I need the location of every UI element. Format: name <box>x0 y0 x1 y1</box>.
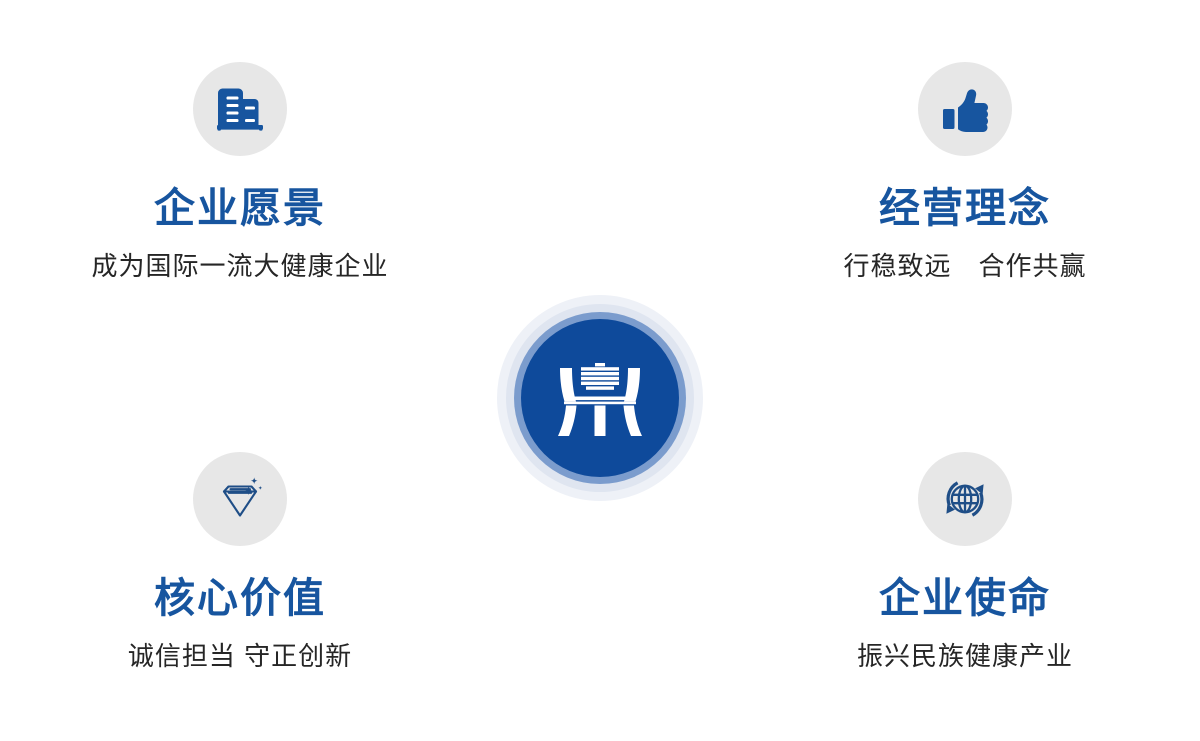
card-title: 核心价值 <box>154 578 326 619</box>
culture-card-core-values: 核心价值 诚信担当 守正创新 <box>30 452 450 669</box>
office-building-icon <box>193 62 287 156</box>
ding-vessel-logo <box>548 346 652 450</box>
card-title: 经营理念 <box>879 188 1051 229</box>
card-subtitle: 振兴民族健康产业 <box>857 643 1073 669</box>
globe-refresh-icon <box>918 452 1012 546</box>
card-title: 企业使命 <box>879 578 1051 619</box>
corporate-culture-board: 企业愿景 成为国际一流大健康企业 经营理念 行稳致远 合作共赢 <box>0 0 1200 741</box>
card-title: 企业愿景 <box>154 188 326 229</box>
company-emblem <box>497 295 703 501</box>
card-subtitle: 诚信担当 守正创新 <box>128 643 352 669</box>
culture-card-philosophy: 经营理念 行稳致远 合作共赢 <box>755 62 1175 279</box>
card-subtitle: 行稳致远 合作共赢 <box>843 253 1086 279</box>
thumbs-up-icon <box>918 62 1012 156</box>
culture-card-mission: 企业使命 振兴民族健康产业 <box>755 452 1175 669</box>
culture-card-vision: 企业愿景 成为国际一流大健康企业 <box>30 62 450 279</box>
card-subtitle: 成为国际一流大健康企业 <box>91 253 388 279</box>
emblem-core <box>521 319 679 477</box>
diamond-sparkle-icon <box>193 452 287 546</box>
